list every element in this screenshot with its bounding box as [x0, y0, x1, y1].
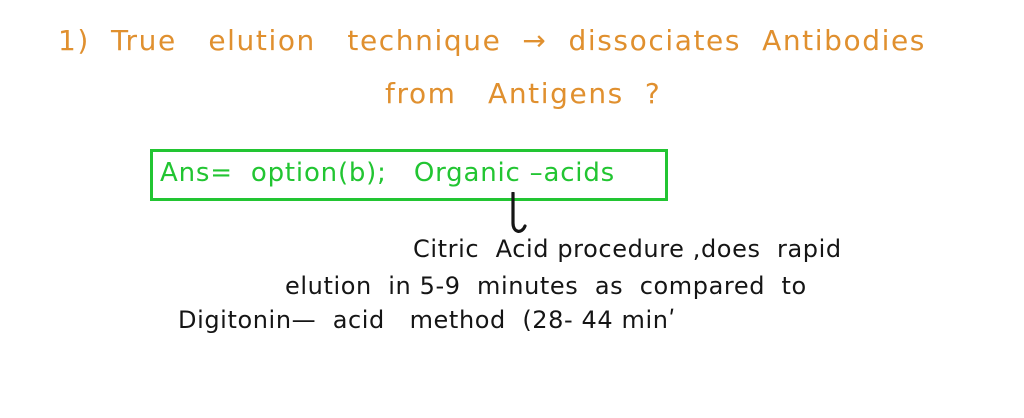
- question-line-1: 1) True elution technique → dissociates …: [58, 27, 926, 55]
- down-arrow-icon: [492, 192, 536, 240]
- question-line-2: from Antigens ?: [385, 80, 661, 108]
- explanation-line-3: Digitonin— acid method (28- 44 minʹ: [178, 308, 676, 332]
- explanation-line-2: elution in 5-9 minutes as compared to: [285, 274, 807, 298]
- answer-text: Ans= option(b); Organic –acids: [160, 160, 615, 186]
- handwritten-note-canvas: 1) True elution technique → dissociates …: [0, 0, 1024, 418]
- explanation-line-1: Citric Acid procedure ,does rapid: [413, 237, 842, 261]
